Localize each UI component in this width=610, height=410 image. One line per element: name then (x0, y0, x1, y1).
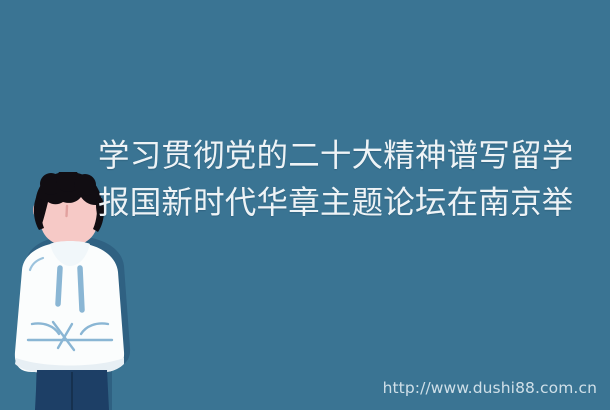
site-url-watermark: http://www.dushi88.com.cn (383, 379, 597, 397)
nose (67, 206, 68, 216)
news-banner-image: 学习贯彻党的二十大精神谱写留学报国新时代华章主题论坛在南京举 http://ww… (0, 0, 610, 410)
headline-text: 学习贯彻党的二十大精神谱写留学报国新时代华章主题论坛在南京举 (98, 133, 598, 227)
